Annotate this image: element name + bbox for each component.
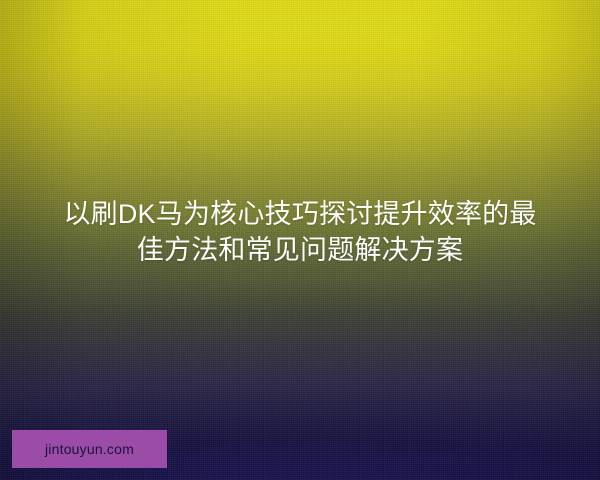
cover-image-canvas: 以刷DK马为核心技巧探讨提升效率的最 佳方法和常见问题解决方案 jintouyu… — [0, 0, 600, 480]
watermark-badge: jintouyun.com — [12, 430, 167, 468]
watermark-site-label: jintouyun.com — [45, 442, 134, 456]
cover-headline: 以刷DK马为核心技巧探讨提升效率的最 佳方法和常见问题解决方案 — [30, 196, 570, 268]
